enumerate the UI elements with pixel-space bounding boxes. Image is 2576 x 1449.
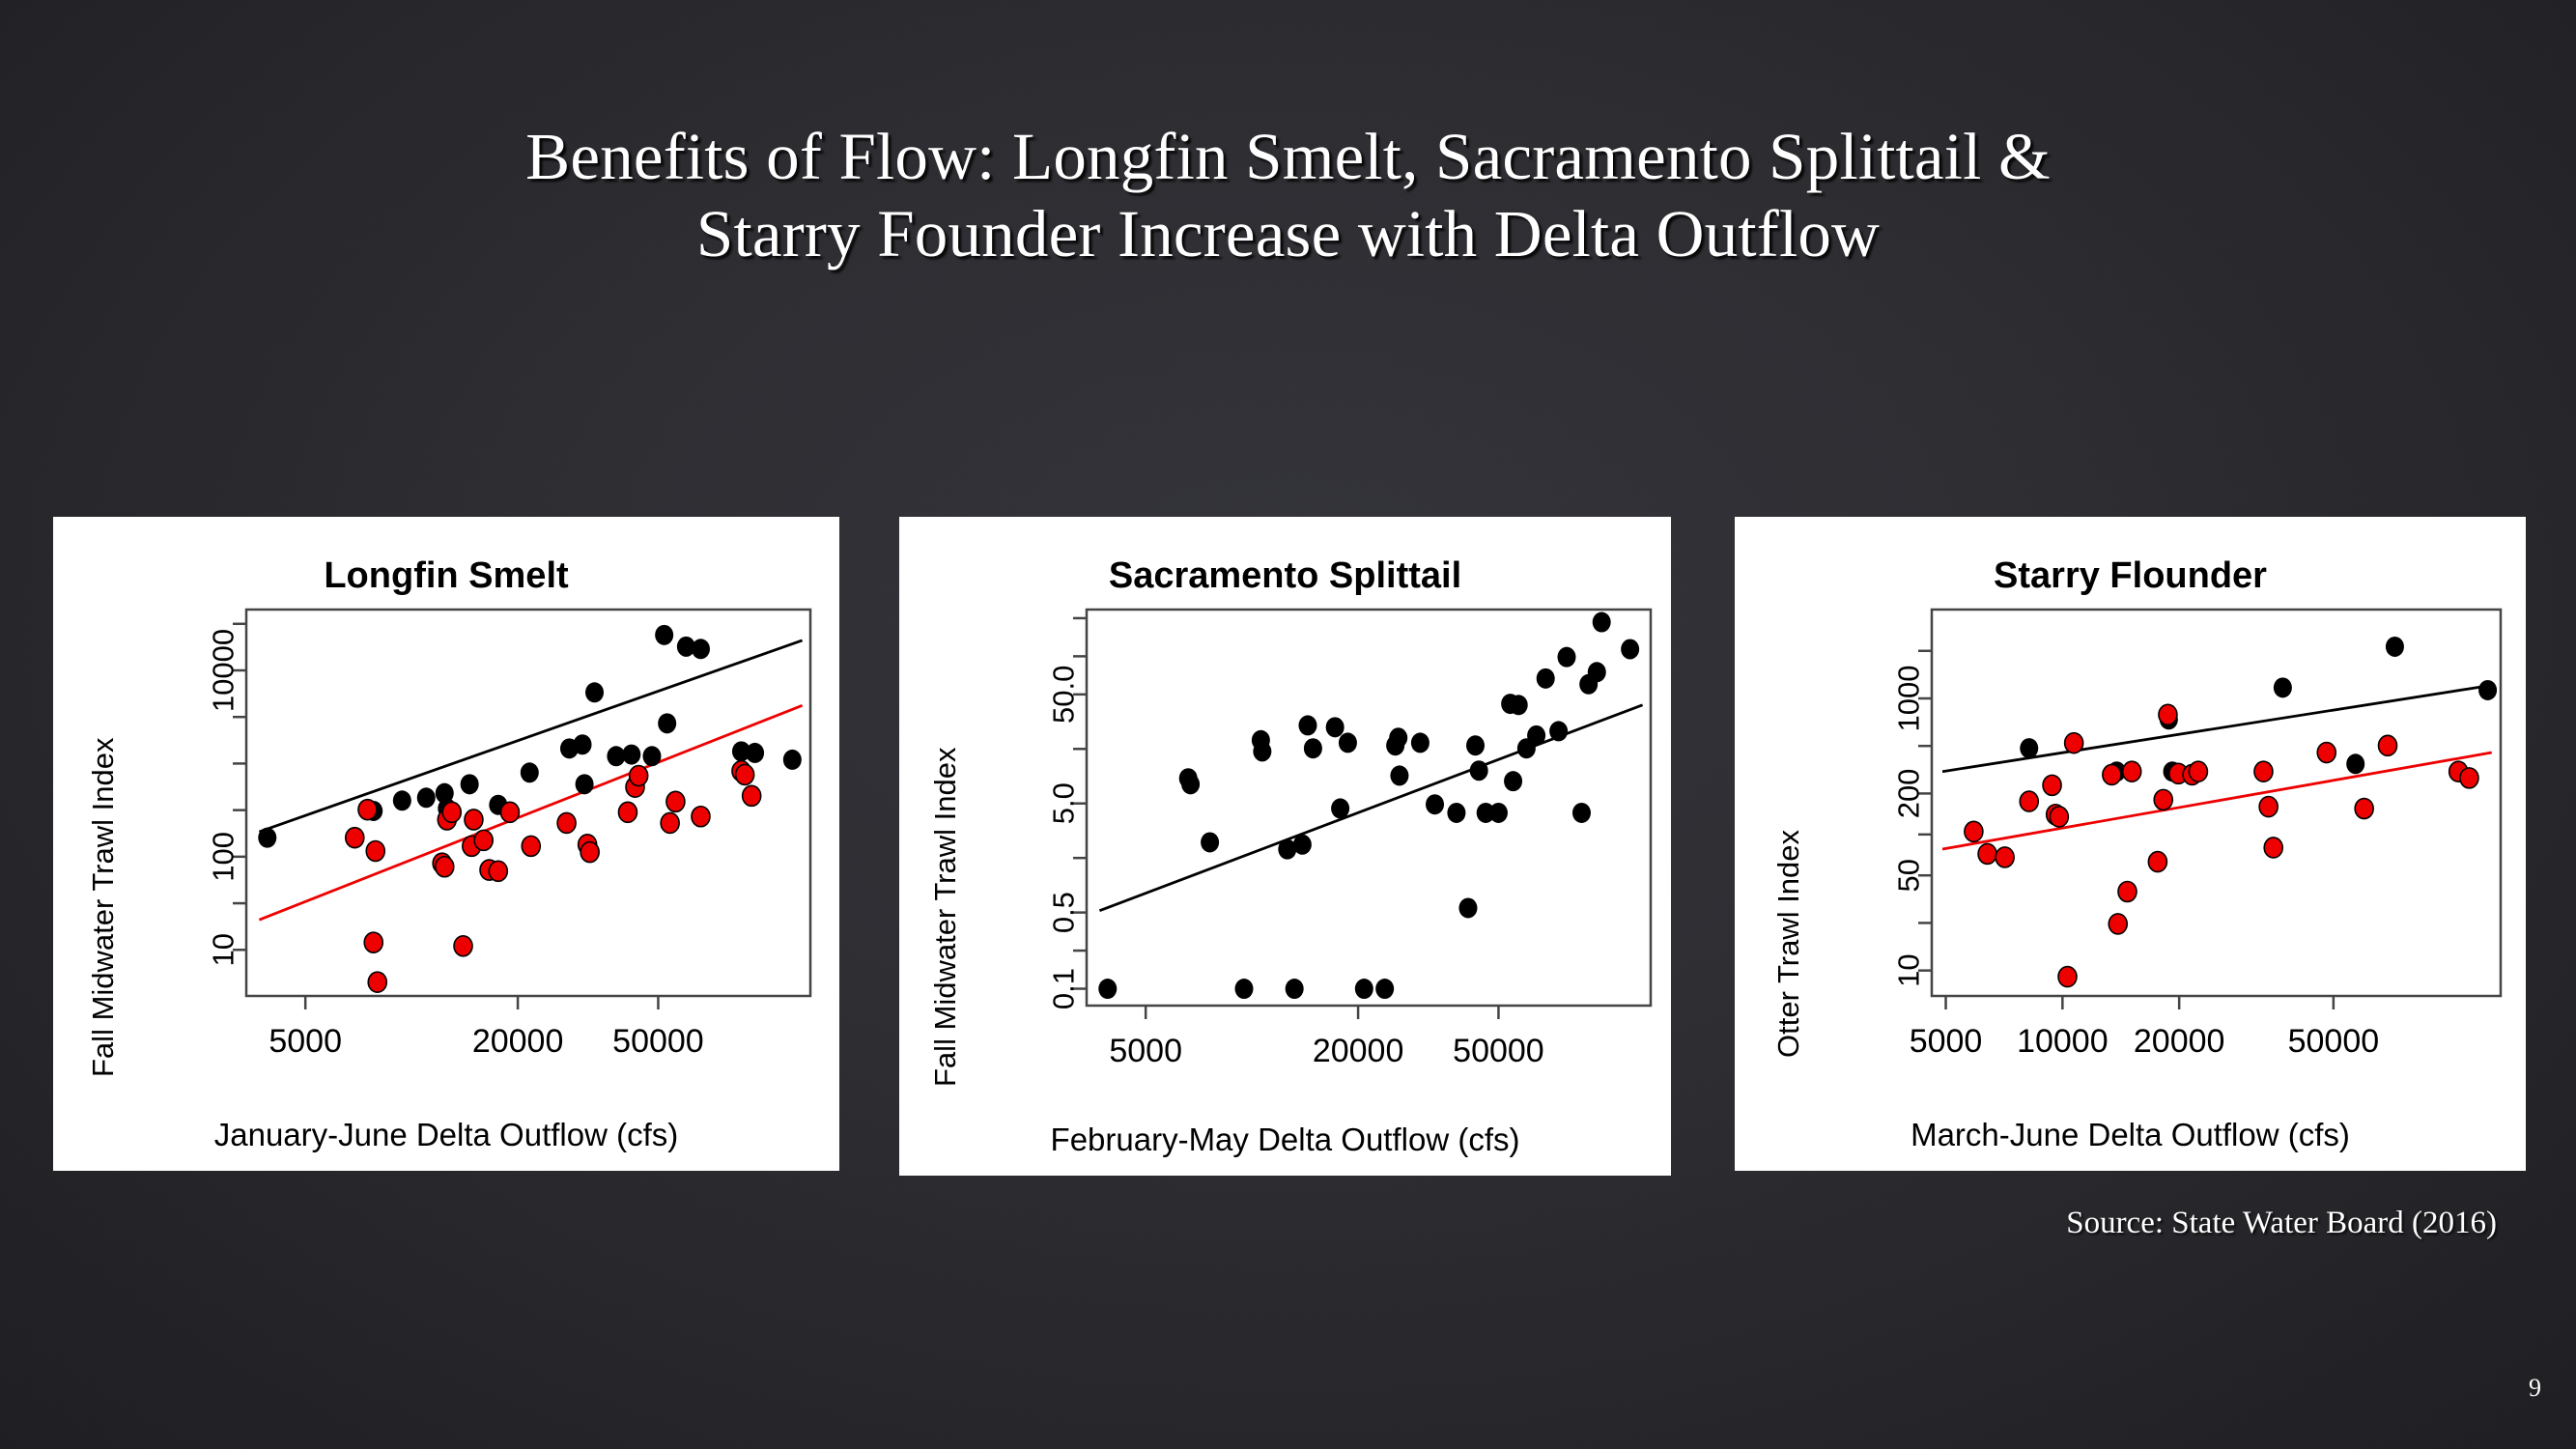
chart-title-starry-flounder: Starry Flounder <box>1735 555 2526 597</box>
chart-ylabel-longfin-smelt: Fall Midwater Trawl Index <box>86 738 121 1077</box>
chart-xlabel-starry-flounder: March-June Delta Outflow (cfs) <box>1735 1117 2526 1153</box>
chart-panel-sacramento-splittail: Sacramento Splittail Fall Midwater Trawl… <box>899 517 1671 1176</box>
chart-panel-starry-flounder: Starry Flounder Otter Trawl Index 105020… <box>1735 517 2526 1171</box>
svg-text:5.0: 5.0 <box>1047 782 1081 824</box>
chart-plot-sacramento-splittail: 0.10.55.050.050002000050000 <box>982 600 1658 1112</box>
svg-text:50.0: 50.0 <box>1047 666 1081 724</box>
chart-panel-longfin-smelt: Longfin Smelt Fall Midwater Trawl Index … <box>53 517 839 1171</box>
chart-ylabel-sacramento-splittail: Fall Midwater Trawl Index <box>928 748 963 1087</box>
svg-text:50000: 50000 <box>612 1023 704 1060</box>
svg-text:10000: 10000 <box>207 629 241 712</box>
chart-plot-longfin-smelt: 101001000050002000050000 <box>142 600 818 1102</box>
svg-text:5000: 5000 <box>269 1023 342 1060</box>
svg-text:50000: 50000 <box>1453 1033 1544 1069</box>
chart-xlabel-longfin-smelt: January-June Delta Outflow (cfs) <box>53 1117 839 1153</box>
svg-text:20000: 20000 <box>472 1023 564 1060</box>
svg-text:0.5: 0.5 <box>1047 892 1081 933</box>
charts-row: Longfin Smelt Fall Midwater Trawl Index … <box>53 517 2526 1174</box>
svg-text:0.1: 0.1 <box>1047 968 1081 1009</box>
chart-xlabel-sacramento-splittail: February-May Delta Outflow (cfs) <box>899 1122 1671 1158</box>
svg-text:20000: 20000 <box>1313 1033 1404 1069</box>
svg-text:10: 10 <box>207 933 241 966</box>
svg-text:100: 100 <box>207 832 241 882</box>
svg-text:10000: 10000 <box>2017 1023 2109 1060</box>
svg-text:50: 50 <box>1892 859 1926 892</box>
svg-text:50000: 50000 <box>2288 1023 2380 1060</box>
chart-title-longfin-smelt: Longfin Smelt <box>53 555 839 597</box>
svg-text:5000: 5000 <box>1910 1023 1983 1060</box>
chart-title-sacramento-splittail: Sacramento Splittail <box>899 555 1671 597</box>
page-number: 9 <box>2529 1374 2541 1403</box>
svg-text:20000: 20000 <box>2134 1023 2225 1060</box>
svg-text:1000: 1000 <box>1892 666 1926 732</box>
svg-text:5000: 5000 <box>1109 1033 1182 1069</box>
chart-plot-starry-flounder: 105020010005000100002000050000 <box>1827 600 2508 1102</box>
chart-ylabel-starry-flounder: Otter Trawl Index <box>1771 830 1806 1058</box>
svg-text:200: 200 <box>1892 769 1926 819</box>
svg-text:10: 10 <box>1892 953 1926 986</box>
source-note: Source: State Water Board (2016) <box>2066 1206 2497 1241</box>
page-title: Benefits of Flow: Longfin Smelt, Sacrame… <box>0 118 2576 272</box>
